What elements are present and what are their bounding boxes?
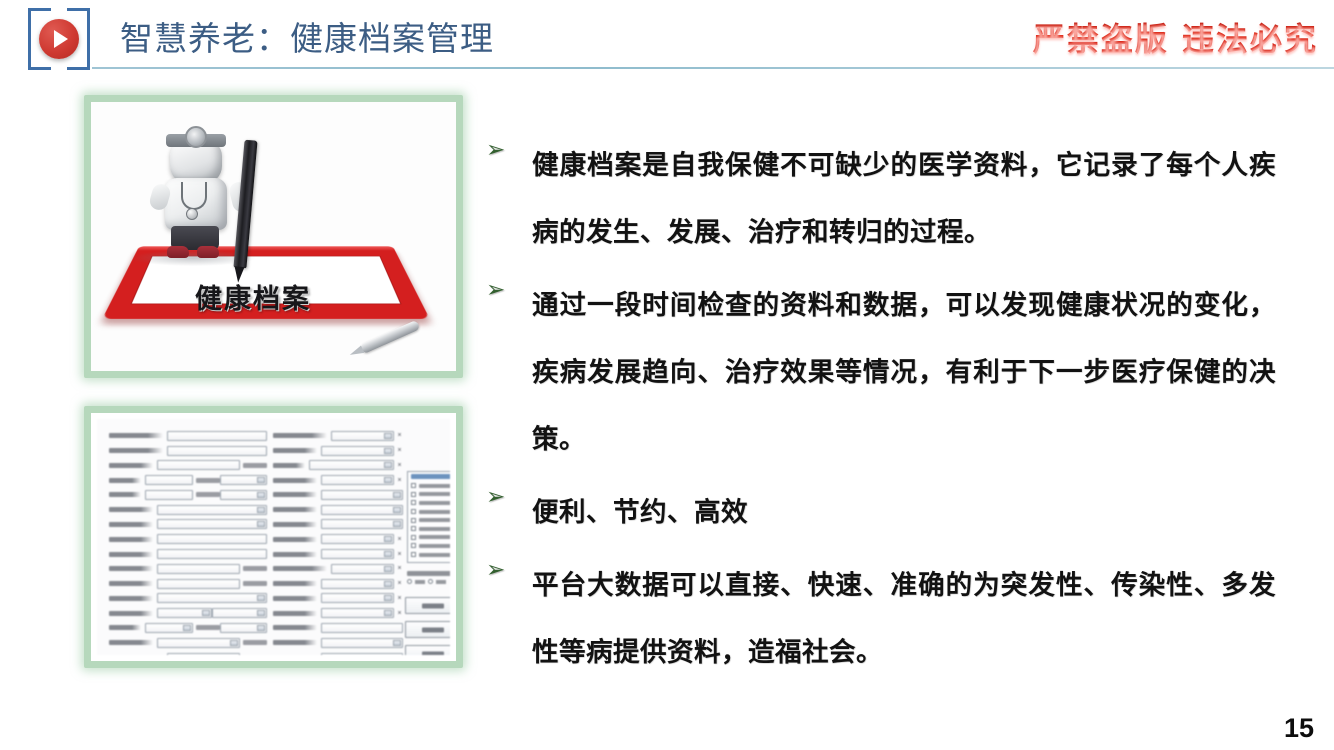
checkbox-icon[interactable] bbox=[411, 500, 416, 505]
form-field-row bbox=[109, 459, 267, 473]
checkbox-group-title bbox=[411, 474, 450, 479]
page-number: 15 bbox=[1284, 713, 1314, 744]
clear-field-icon[interactable]: × bbox=[396, 432, 403, 439]
logo-frame bbox=[28, 8, 90, 70]
checkbox-label bbox=[419, 510, 450, 514]
clear-field-icon[interactable]: × bbox=[396, 595, 403, 602]
field-label bbox=[109, 433, 163, 438]
field-label bbox=[273, 625, 317, 630]
field-input[interactable] bbox=[157, 534, 267, 544]
field-dropdown[interactable] bbox=[157, 593, 267, 603]
bullet-text: 健康档案是自我保健不可缺少的医学资料，它记录了每个人疾病的发生、发展、治疗和转归… bbox=[532, 132, 1276, 266]
field-dropdown[interactable] bbox=[321, 505, 403, 515]
field-label bbox=[109, 611, 153, 616]
field-input[interactable] bbox=[167, 653, 240, 655]
field-dropdown[interactable] bbox=[321, 475, 394, 485]
header-divider bbox=[92, 67, 1334, 69]
page-title: 智慧养老：健康档案管理 bbox=[120, 12, 494, 60]
form-field-row bbox=[109, 532, 267, 546]
checkbox-row[interactable] bbox=[411, 490, 450, 499]
field-dropdown[interactable] bbox=[321, 608, 394, 618]
field-suffix-label bbox=[243, 640, 267, 645]
checkbox-label bbox=[419, 544, 450, 548]
clear-field-icon[interactable]: × bbox=[396, 536, 403, 543]
form-field-row: × bbox=[273, 577, 403, 591]
field-dropdown[interactable] bbox=[220, 623, 268, 633]
field-label bbox=[273, 566, 327, 571]
stethoscope-bell-icon bbox=[186, 208, 198, 220]
field-dropdown[interactable] bbox=[321, 638, 403, 648]
form-field-row: × bbox=[273, 592, 403, 606]
illustration-caption: 健康档案 bbox=[195, 277, 311, 316]
radio-group-title bbox=[407, 571, 450, 576]
field-label bbox=[109, 463, 153, 468]
field-label bbox=[273, 448, 317, 453]
form-field-row: × bbox=[273, 429, 403, 443]
small-pen-icon bbox=[360, 320, 421, 354]
form-field-row: × bbox=[273, 459, 403, 473]
slide-header: 智慧养老：健康档案管理 严禁盗版 违法必究 严禁盗版 违法必究 bbox=[0, 0, 1334, 80]
form-field-row bbox=[109, 488, 267, 502]
field-dropdown[interactable] bbox=[321, 549, 394, 559]
form-field-row: × bbox=[273, 473, 403, 487]
field-dropdown[interactable] bbox=[157, 608, 212, 618]
health-record-illustration: 健康档案 bbox=[84, 95, 463, 378]
head-mirror-icon bbox=[185, 126, 207, 148]
form-field-row bbox=[273, 621, 403, 635]
field-label bbox=[273, 581, 317, 586]
bullet-item: ➢ 通过一段时间检查的资料和数据，可以发现健康状况的变化，疾病发展趋向、治疗效果… bbox=[486, 272, 1276, 473]
stethoscope-icon bbox=[181, 182, 207, 210]
form-field-row bbox=[109, 444, 267, 458]
radio-icon[interactable] bbox=[407, 579, 412, 584]
form-right-column: × × × × × × × × × × bbox=[273, 429, 403, 655]
form-field-row bbox=[109, 592, 267, 606]
bullet-text: 通过一段时间检查的资料和数据，可以发现健康状况的变化，疾病发展趋向、治疗效果等情… bbox=[532, 272, 1276, 473]
checkbox-label bbox=[419, 484, 450, 488]
field-label bbox=[273, 596, 317, 601]
bullet-text: 便利、节约、高效 bbox=[532, 479, 1276, 546]
form-field-row bbox=[109, 429, 267, 443]
form-field-row: × bbox=[273, 532, 403, 546]
field-dropdown[interactable] bbox=[157, 505, 267, 515]
form-field-row bbox=[273, 518, 403, 532]
checkbox-label bbox=[419, 501, 450, 505]
checkbox-row[interactable] bbox=[411, 533, 450, 542]
checkbox-label bbox=[419, 553, 450, 557]
field-label bbox=[109, 507, 153, 512]
checkbox-icon[interactable] bbox=[411, 535, 416, 540]
form-field-row: × bbox=[273, 444, 403, 458]
field-dropdown[interactable] bbox=[220, 475, 268, 485]
field-dropdown[interactable] bbox=[321, 446, 394, 456]
field-label bbox=[273, 478, 317, 483]
arrow-bullet-icon: ➢ bbox=[486, 557, 510, 583]
field-label bbox=[109, 581, 153, 586]
radio-group bbox=[407, 571, 450, 584]
checkbox-row[interactable] bbox=[411, 550, 450, 559]
doctor-shoe-left bbox=[167, 246, 189, 258]
form-field-row bbox=[109, 651, 267, 655]
field-label bbox=[109, 566, 153, 571]
checkbox-icon[interactable] bbox=[411, 483, 416, 488]
field-input[interactable] bbox=[157, 579, 240, 589]
field-dropdown[interactable] bbox=[321, 653, 403, 655]
clear-field-icon[interactable]: × bbox=[396, 565, 403, 572]
form-field-row bbox=[273, 651, 403, 655]
form-field-row bbox=[109, 636, 267, 650]
field-suffix-label bbox=[196, 492, 220, 497]
checkbox-icon[interactable] bbox=[411, 518, 416, 523]
form-field-row bbox=[273, 503, 403, 517]
field-dropdown[interactable] bbox=[220, 490, 268, 500]
field-label bbox=[109, 537, 153, 542]
copyright-warning: 严禁盗版 违法必究 bbox=[1033, 14, 1318, 60]
bullet-text: 平台大数据可以直接、快速、准确的为突发性、传染性、多发性等病提供资料，造福社会。 bbox=[532, 552, 1276, 686]
field-label bbox=[273, 433, 327, 438]
field-label bbox=[273, 507, 317, 512]
arrow-bullet-icon: ➢ bbox=[486, 137, 510, 163]
form-field-row bbox=[273, 636, 403, 650]
field-input[interactable] bbox=[145, 490, 193, 500]
field-dropdown[interactable] bbox=[212, 608, 267, 618]
form-field-row: × bbox=[273, 606, 403, 620]
illustration-canvas: 健康档案 bbox=[91, 102, 456, 371]
field-dropdown[interactable] bbox=[321, 579, 394, 589]
form-field-row bbox=[109, 621, 267, 635]
form-field-row bbox=[273, 488, 403, 502]
checkbox-icon[interactable] bbox=[411, 526, 416, 531]
field-suffix-label bbox=[196, 625, 220, 630]
form-field-row bbox=[109, 577, 267, 591]
field-label bbox=[273, 611, 317, 616]
field-label bbox=[109, 552, 153, 557]
checkbox-label bbox=[419, 492, 450, 496]
field-suffix-label bbox=[243, 581, 267, 586]
radio-icon[interactable] bbox=[428, 579, 433, 584]
form-field-row bbox=[109, 562, 267, 576]
arrow-bullet-icon: ➢ bbox=[486, 277, 510, 303]
checkbox-icon[interactable] bbox=[411, 543, 416, 548]
play-button-icon bbox=[39, 19, 79, 59]
field-dropdown[interactable] bbox=[321, 534, 394, 544]
field-input[interactable] bbox=[157, 564, 240, 574]
checkbox-label bbox=[419, 535, 450, 539]
form-button-tertiary[interactable] bbox=[405, 645, 450, 655]
checkbox-row[interactable] bbox=[411, 507, 450, 516]
field-label bbox=[109, 492, 141, 497]
clear-field-icon[interactable]: × bbox=[396, 477, 403, 484]
form-field-row bbox=[109, 473, 267, 487]
checkbox-label bbox=[419, 518, 450, 522]
field-dropdown[interactable] bbox=[145, 623, 193, 633]
form-field-row bbox=[109, 547, 267, 561]
clear-field-icon[interactable]: × bbox=[396, 462, 403, 469]
field-dropdown[interactable] bbox=[309, 460, 394, 470]
checkbox-row[interactable] bbox=[411, 542, 450, 551]
checkbox-row[interactable] bbox=[411, 499, 450, 508]
field-label bbox=[109, 522, 153, 527]
frame-edge-right bbox=[87, 8, 90, 70]
checkbox-icon[interactable] bbox=[411, 509, 416, 514]
bullet-item: ➢ 健康档案是自我保健不可缺少的医学资料，它记录了每个人疾病的发生、发展、治疗和… bbox=[486, 132, 1276, 266]
field-label bbox=[273, 552, 317, 557]
form-field-row bbox=[109, 518, 267, 532]
field-dropdown[interactable] bbox=[157, 638, 240, 648]
field-input[interactable] bbox=[167, 446, 267, 456]
clear-field-icon[interactable]: × bbox=[396, 610, 403, 617]
clear-field-icon[interactable]: × bbox=[396, 447, 403, 454]
field-dropdown[interactable] bbox=[321, 490, 403, 500]
field-input[interactable] bbox=[157, 549, 267, 559]
doctor-shoe-right bbox=[197, 246, 219, 258]
field-dropdown[interactable] bbox=[331, 564, 394, 574]
field-input[interactable] bbox=[145, 475, 193, 485]
form-field-row bbox=[109, 503, 267, 517]
radio-row[interactable] bbox=[407, 579, 450, 584]
form-button-secondary[interactable] bbox=[405, 621, 450, 638]
field-suffix-label bbox=[243, 463, 267, 468]
field-suffix-label bbox=[243, 566, 267, 571]
bullet-list: ➢ 健康档案是自我保健不可缺少的医学资料，它记录了每个人疾病的发生、发展、治疗和… bbox=[486, 132, 1276, 692]
field-dropdown[interactable] bbox=[321, 593, 394, 603]
checkbox-row[interactable] bbox=[411, 516, 450, 525]
arrow-bullet-icon: ➢ bbox=[486, 484, 510, 510]
form-field-row: × bbox=[273, 562, 403, 576]
checkbox-row[interactable] bbox=[411, 524, 450, 533]
bullet-item: ➢ 便利、节约、高效 bbox=[486, 479, 1276, 546]
form-left-column bbox=[109, 429, 267, 655]
form-button-primary[interactable] bbox=[405, 597, 450, 614]
field-label bbox=[109, 625, 141, 630]
form-field-row: × bbox=[273, 547, 403, 561]
frame-edge-left bbox=[28, 8, 31, 70]
field-suffix-label bbox=[196, 478, 220, 483]
field-label bbox=[109, 640, 153, 645]
field-label bbox=[273, 522, 317, 527]
field-input[interactable] bbox=[157, 460, 240, 470]
form-screenshot-canvas: × × × × × × × × × × bbox=[97, 419, 450, 655]
field-label bbox=[273, 640, 317, 645]
checkbox-label bbox=[419, 527, 450, 531]
checkbox-group-panel bbox=[407, 471, 450, 563]
radio-label bbox=[436, 580, 446, 584]
field-label bbox=[109, 596, 153, 601]
bullet-item: ➢ 平台大数据可以直接、快速、准确的为突发性、传染性、多发性等病提供资料，造福社… bbox=[486, 552, 1276, 686]
field-dropdown[interactable] bbox=[157, 519, 267, 529]
form-field-row bbox=[109, 606, 267, 620]
field-input[interactable] bbox=[167, 431, 267, 441]
play-triangle-icon bbox=[54, 30, 68, 48]
field-dropdown[interactable] bbox=[331, 431, 394, 441]
clear-field-icon[interactable]: × bbox=[396, 551, 403, 558]
field-label bbox=[273, 463, 305, 468]
checkbox-row[interactable] bbox=[411, 482, 450, 491]
field-label bbox=[109, 478, 141, 483]
field-dropdown[interactable] bbox=[321, 519, 403, 529]
form-button-stack bbox=[405, 597, 450, 655]
doctor-figure-icon bbox=[157, 128, 241, 260]
field-label bbox=[109, 448, 163, 453]
checkbox-icon[interactable] bbox=[411, 492, 416, 497]
field-input[interactable] bbox=[321, 623, 403, 633]
health-record-form-screenshot: × × × × × × × × × × bbox=[84, 406, 463, 668]
checkbox-icon[interactable] bbox=[411, 552, 416, 557]
clear-field-icon[interactable]: × bbox=[396, 580, 403, 587]
field-label bbox=[273, 492, 317, 497]
field-label bbox=[273, 537, 317, 542]
radio-label bbox=[415, 580, 425, 584]
